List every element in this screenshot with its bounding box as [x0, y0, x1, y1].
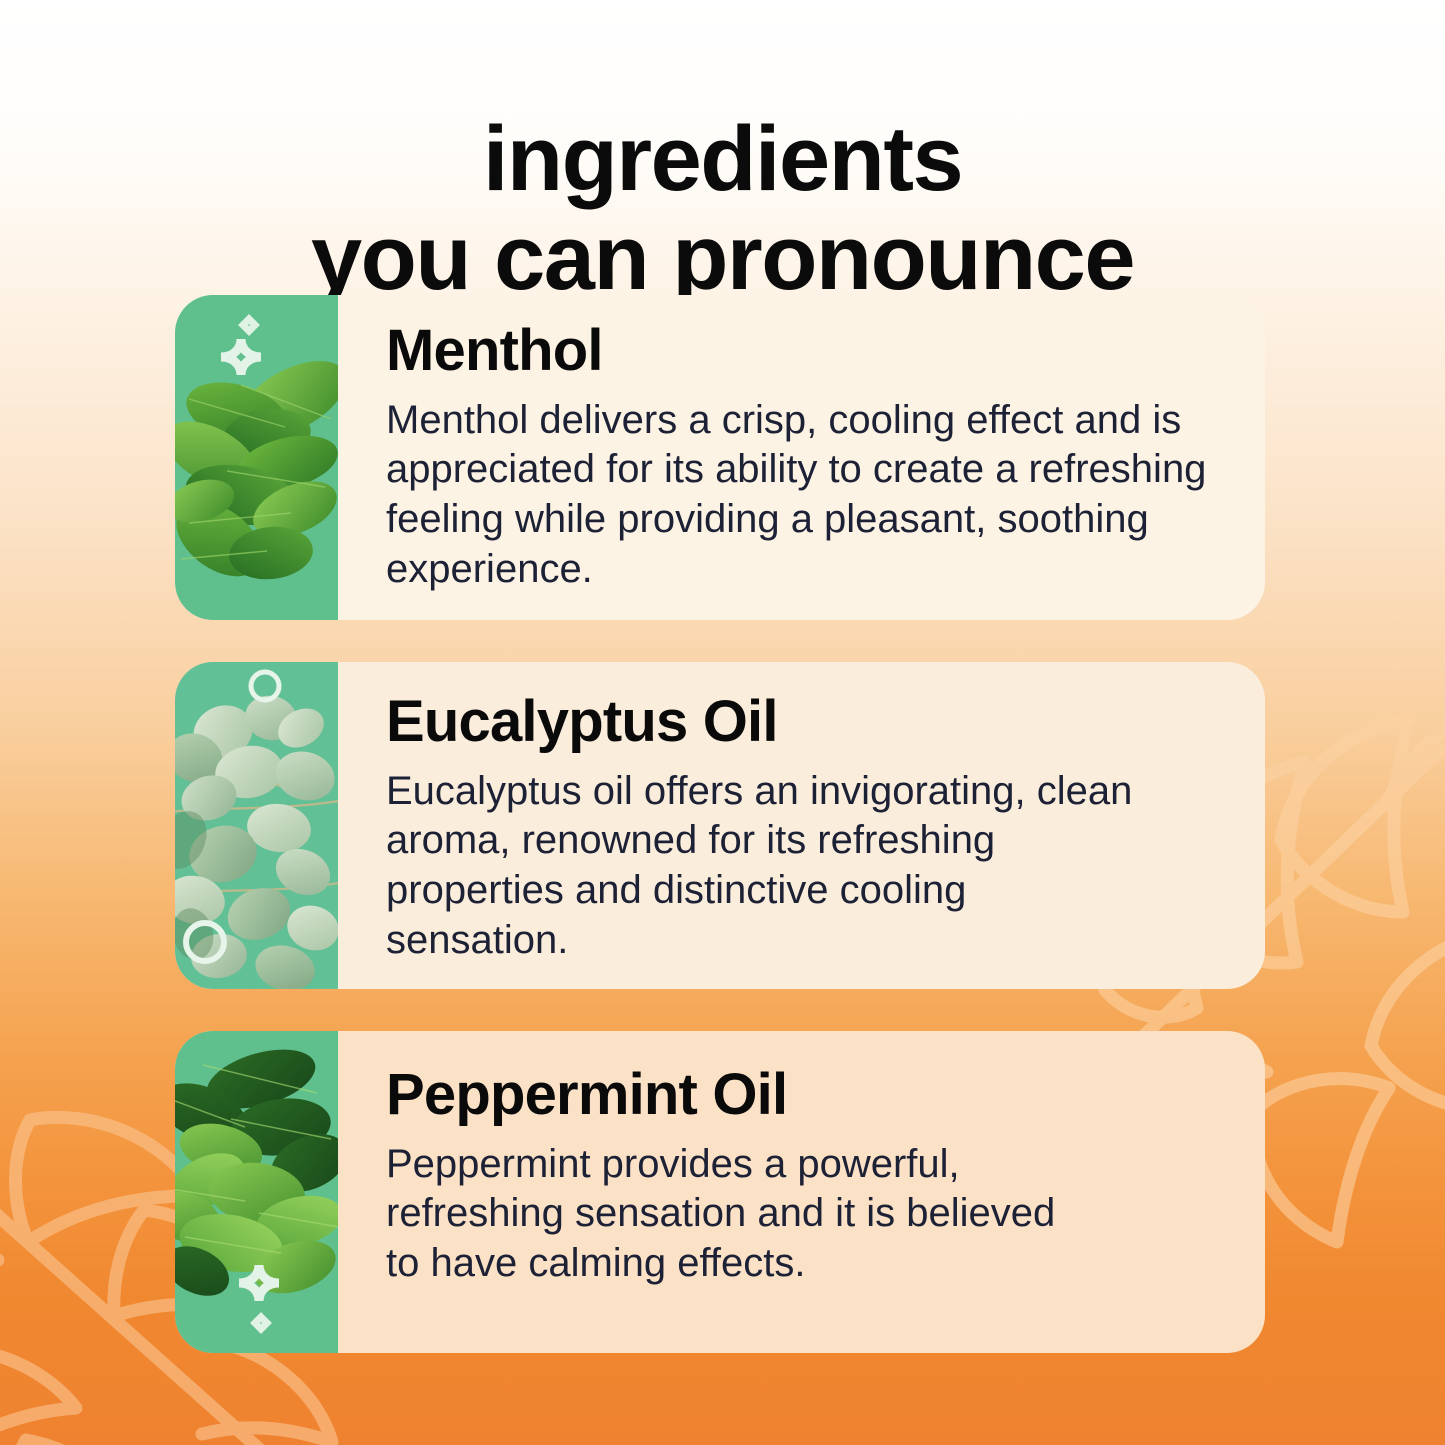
ingredient-title: Peppermint Oil — [386, 1065, 1221, 1126]
ingredient-card-peppermint: Peppermint Oil Peppermint provides a pow… — [175, 1031, 1265, 1353]
ingredient-card-menthol: Menthol Menthol delivers a crisp, coolin… — [175, 295, 1265, 620]
ingredient-card-list: Menthol Menthol delivers a crisp, coolin… — [175, 295, 1265, 1395]
ingredient-title: Eucalyptus Oil — [386, 692, 1221, 753]
menthol-image — [175, 295, 338, 620]
eucalyptus-image — [175, 662, 338, 989]
page-title-line-1: ingredients — [0, 110, 1445, 209]
eucalyptus-text-block: Eucalyptus Oil Eucalyptus oil offers an … — [338, 662, 1265, 989]
page-title: ingredients you can pronounce — [0, 110, 1445, 309]
ingredient-description: Peppermint provides a powerful, refreshi… — [386, 1140, 1086, 1289]
menthol-text-block: Menthol Menthol delivers a crisp, coolin… — [338, 295, 1265, 620]
sparkle-diamond-icon — [175, 295, 338, 620]
sparkle-diamond-icon — [175, 1031, 338, 1353]
page-title-line-2: you can pronounce — [0, 209, 1445, 308]
ingredient-card-eucalyptus: Eucalyptus Oil Eucalyptus oil offers an … — [175, 662, 1265, 989]
circle-outline-icon — [175, 662, 338, 989]
ingredient-description: Eucalyptus oil offers an invigorating, c… — [386, 767, 1146, 965]
ingredient-title: Menthol — [386, 321, 1221, 382]
poster-canvas: ingredients you can pronounce — [0, 0, 1445, 1445]
ingredient-description: Menthol delivers a crisp, cooling effect… — [386, 396, 1216, 594]
peppermint-image — [175, 1031, 338, 1353]
peppermint-text-block: Peppermint Oil Peppermint provides a pow… — [338, 1031, 1265, 1353]
